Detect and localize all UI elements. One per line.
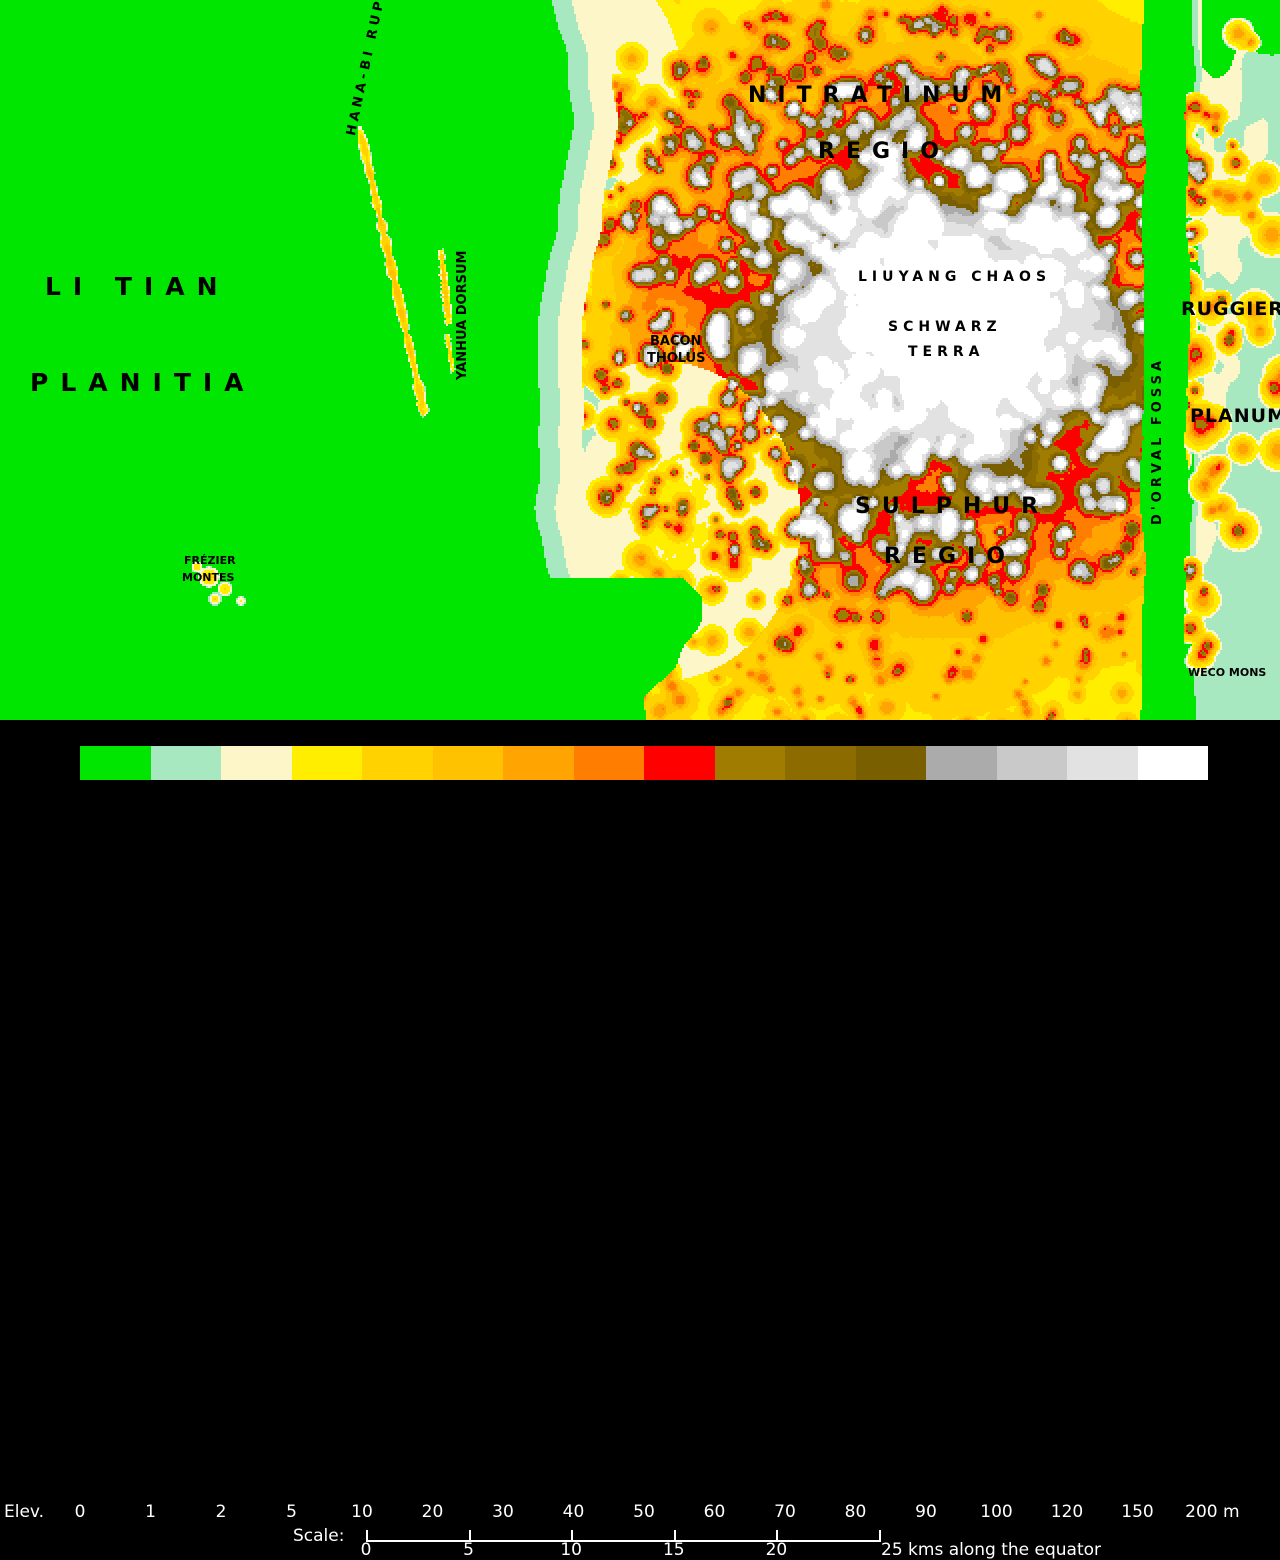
elev-tick-10: 10 [351, 1502, 373, 1522]
colorbar-swatch-3 [292, 746, 363, 780]
colorbar-swatch-6 [503, 746, 574, 780]
elev-tick-100: 100 [980, 1502, 1012, 1522]
scale-tick-5: 5 [463, 1540, 474, 1560]
map-page: LI TIANPLANITIAHANA-BI RUPESYANHUA DORSU… [0, 0, 1280, 840]
elev-tick-200: 200 m [1185, 1502, 1239, 1522]
colorbar-swatch-4 [362, 746, 433, 780]
colorbar-swatch-11 [856, 746, 927, 780]
elev-tick-150: 150 [1121, 1502, 1153, 1522]
scale-tick-15: 15 [663, 1540, 685, 1560]
scale-bar-line [366, 1540, 879, 1542]
colorbar-swatch-9 [715, 746, 786, 780]
map-viewport[interactable]: LI TIANPLANITIAHANA-BI RUPESYANHUA DORSU… [0, 0, 1280, 720]
colorbar-swatch-15 [1138, 746, 1209, 780]
elev-tick-40: 40 [563, 1502, 585, 1522]
elev-tick-20: 20 [422, 1502, 444, 1522]
scale-tick-20: 20 [766, 1540, 788, 1560]
elev-tick-90: 90 [915, 1502, 937, 1522]
colorbar-swatch-13 [997, 746, 1068, 780]
colorbar-swatch-5 [433, 746, 504, 780]
colorbar-swatch-0 [80, 746, 151, 780]
colorbar-swatch-12 [926, 746, 997, 780]
elevation-colorbar [80, 746, 1208, 780]
elev-tick-0: 0 [75, 1502, 86, 1522]
colorbar-swatch-1 [151, 746, 222, 780]
scale-tick-0: 0 [361, 1540, 372, 1560]
legend-panel: Elev. 0125102030405060708090100120150200… [0, 720, 1280, 840]
elev-tick-30: 30 [492, 1502, 514, 1522]
elev-tick-70: 70 [774, 1502, 796, 1522]
colorbar-swatch-7 [574, 746, 645, 780]
elev-tick-1: 1 [145, 1502, 156, 1522]
elevation-legend-label: Elev. [4, 1502, 44, 1522]
elev-tick-80: 80 [845, 1502, 867, 1522]
terrain-raster[interactable] [0, 0, 1280, 720]
elev-tick-120: 120 [1051, 1502, 1083, 1522]
scale-tick-10: 10 [560, 1540, 582, 1560]
colorbar-swatch-14 [1067, 746, 1138, 780]
elev-tick-60: 60 [704, 1502, 726, 1522]
colorbar-swatch-10 [785, 746, 856, 780]
scale-bar [366, 1530, 879, 1544]
scale-unit-label: 25 kms along the equator [881, 1540, 1101, 1560]
elev-tick-50: 50 [633, 1502, 655, 1522]
elev-tick-2: 2 [216, 1502, 227, 1522]
colorbar-swatch-8 [644, 746, 715, 780]
colorbar-swatch-2 [221, 746, 292, 780]
elev-tick-5: 5 [286, 1502, 297, 1522]
scale-label: Scale: [293, 1526, 344, 1546]
